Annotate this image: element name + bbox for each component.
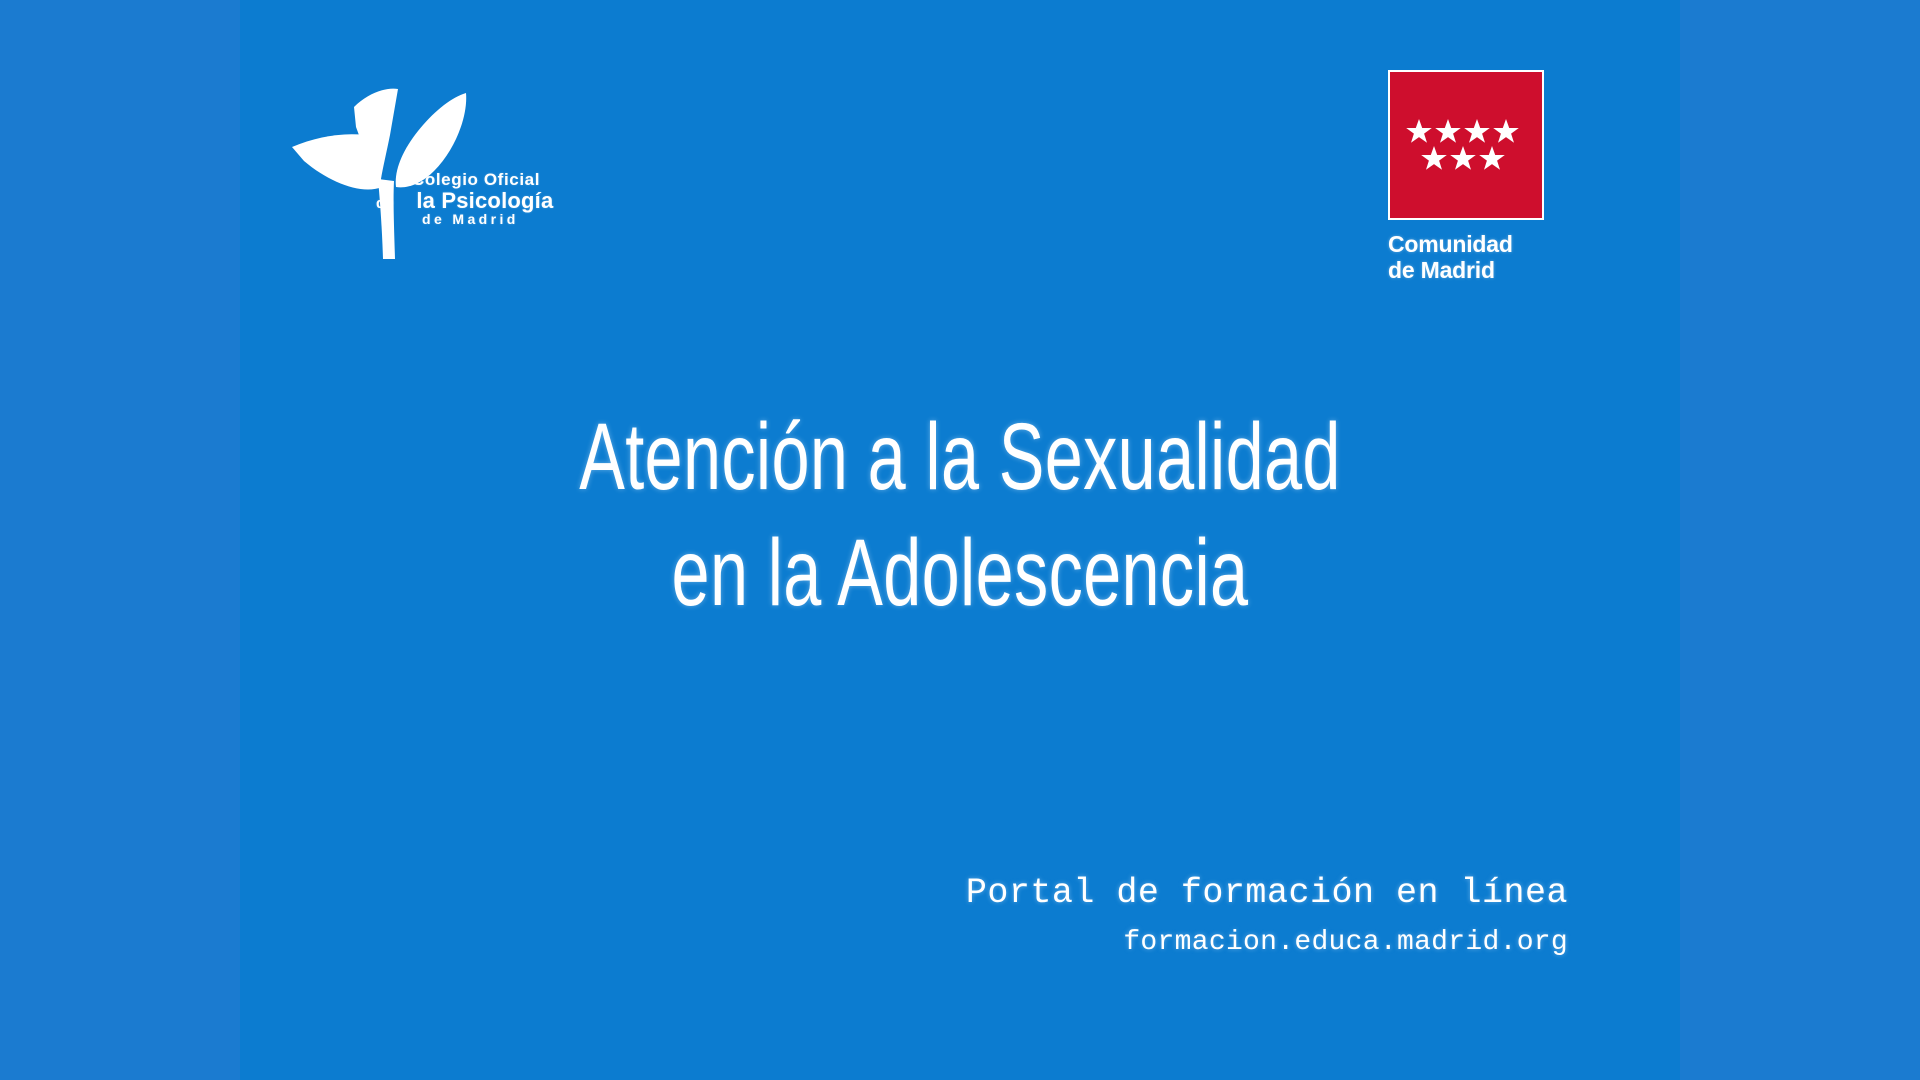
presentation-slide: Colegio Oficial dela Psicología de Madri… bbox=[240, 0, 1680, 1080]
seven-stars-icon bbox=[1406, 117, 1526, 173]
comunidad-de-madrid-logo-text: Comunidad de Madrid bbox=[1388, 232, 1548, 284]
comunidad-line-2: de Madrid bbox=[1388, 258, 1548, 284]
cop-line-3: de Madrid bbox=[376, 212, 586, 227]
comunidad-flag-box bbox=[1388, 70, 1544, 220]
slide-footer: Portal de formación en línea formacion.e… bbox=[966, 872, 1568, 962]
cop-line-1: Colegio Oficial bbox=[376, 171, 586, 189]
cop-line-2-prefix: de bbox=[376, 195, 416, 212]
cop-madrid-logo-text: Colegio Oficial dela Psicología de Madri… bbox=[376, 171, 586, 227]
psi-plant-icon bbox=[290, 75, 470, 260]
portal-url: formacion.educa.madrid.org bbox=[966, 924, 1568, 962]
slide-title: Atención a la Sexualidad en la Adolescen… bbox=[442, 400, 1479, 632]
comunidad-de-madrid-logo: Comunidad de Madrid bbox=[1388, 70, 1548, 284]
portal-label: Portal de formación en línea bbox=[966, 872, 1568, 916]
cop-line-2: dela Psicología bbox=[376, 189, 586, 212]
cop-madrid-logo: Colegio Oficial dela Psicología de Madri… bbox=[290, 75, 580, 275]
cop-line-2-main: la Psicología bbox=[416, 188, 553, 213]
slide-title-line-2: en la Adolescencia bbox=[442, 516, 1479, 632]
slide-stage: Colegio Oficial dela Psicología de Madri… bbox=[0, 0, 1920, 1080]
comunidad-line-1: Comunidad bbox=[1388, 232, 1548, 258]
slide-title-line-1: Atención a la Sexualidad bbox=[442, 400, 1479, 516]
